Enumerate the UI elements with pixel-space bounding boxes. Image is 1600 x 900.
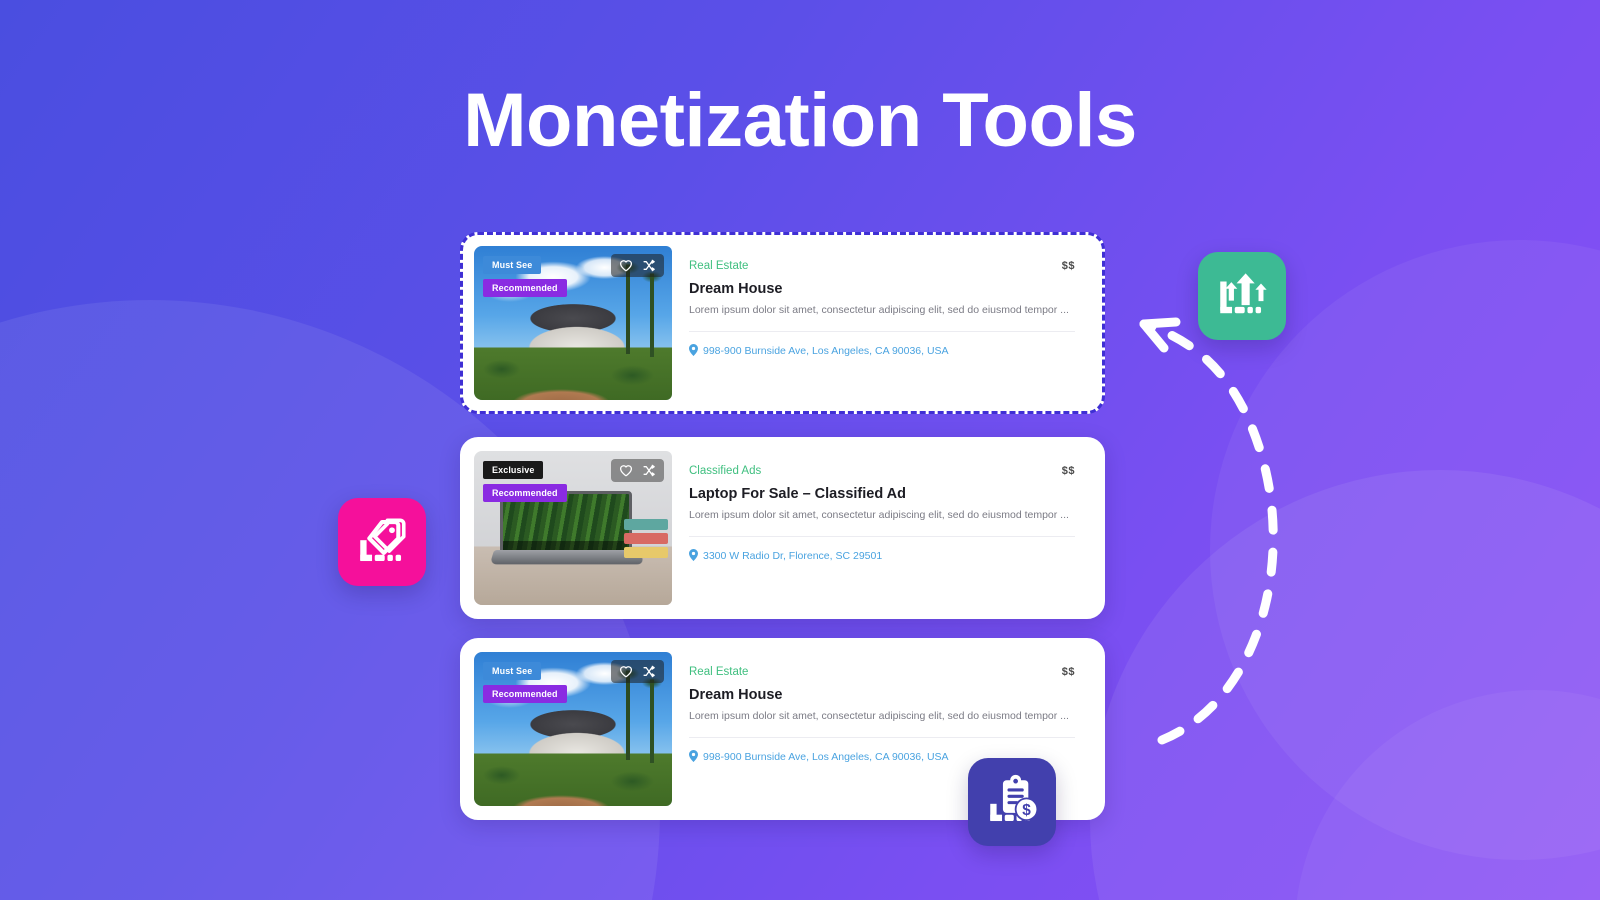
divider [689,737,1075,738]
thumbnail-actions[interactable] [611,254,664,277]
listing-address-row[interactable]: 3300 W Radio Dr, Florence, SC 29501 [689,549,1075,564]
badge-group: Must See Recommended [483,661,567,703]
heart-icon[interactable] [619,665,633,678]
thumbnail-actions[interactable] [611,660,664,683]
arrows-up-chart-icon [1213,267,1271,325]
background-circle-right-lower [1090,470,1600,900]
price-tags-icon [353,513,411,571]
map-pin-icon [689,344,698,359]
feature-icon-promote-listing[interactable] [1198,252,1286,340]
category-row: Classified Ads $$ [689,465,1075,479]
promo-banner: Monetization Tools Must See Recommended [0,0,1600,900]
listing-body: Classified Ads $$ Laptop For Sale – Clas… [672,451,1091,605]
listing-body: Real Estate $$ Dream House Lorem ipsum d… [672,246,1091,400]
map-pin-icon [689,750,698,765]
listing-card[interactable]: Must See Recommended [474,246,1091,400]
listing-card[interactable]: Exclusive Recommended [474,451,1091,605]
heart-icon[interactable] [619,259,633,272]
svg-text:$: $ [1022,802,1031,819]
listing-title[interactable]: Laptop For Sale – Classified Ad [689,485,1075,504]
listing-thumbnail[interactable]: Must See Recommended [474,246,672,400]
divider [689,331,1075,332]
listing-card-wrapper[interactable]: Exclusive Recommended [460,437,1105,619]
compare-icon[interactable] [642,665,656,678]
background-circle-corner [1295,690,1600,900]
listing-address: 998-900 Burnside Ave, Los Angeles, CA 90… [703,345,949,357]
compare-icon[interactable] [642,464,656,477]
laptop-illustration [492,491,642,569]
badge-group: Exclusive Recommended [483,460,567,502]
category-row: Real Estate $$ [689,260,1075,274]
listing-category[interactable]: Classified Ads [689,465,761,479]
thumbnail-actions[interactable] [611,459,664,482]
badge-recommended: Recommended [483,685,567,703]
category-row: Real Estate $$ [689,666,1075,680]
listing-title[interactable]: Dream House [689,686,1075,705]
listing-excerpt: Lorem ipsum dolor sit amet, consectetur … [689,303,1075,318]
badge-recommended: Recommended [483,279,567,297]
compare-icon[interactable] [642,259,656,272]
divider [689,536,1075,537]
listing-thumbnail[interactable]: Must See Recommended [474,652,672,806]
listing-price: $$ [1062,465,1075,477]
books-illustration [624,519,668,565]
badge-group: Must See Recommended [483,255,567,297]
feature-icon-pricing-tags[interactable] [338,498,426,586]
listing-price: $$ [1062,666,1075,678]
badge-must-see: Must See [483,662,541,680]
listing-price: $$ [1062,260,1075,272]
listing-excerpt: Lorem ipsum dolor sit amet, consectetur … [689,508,1075,523]
listing-thumbnail[interactable]: Exclusive Recommended [474,451,672,605]
badge-recommended: Recommended [483,484,567,502]
listing-address: 998-900 Burnside Ave, Los Angeles, CA 90… [703,751,949,763]
badge-exclusive: Exclusive [483,461,543,479]
listing-excerpt: Lorem ipsum dolor sit amet, consectetur … [689,709,1075,724]
feature-icon-invoicing[interactable]: $ [968,758,1056,846]
badge-must-see: Must See [483,256,541,274]
listing-address-row[interactable]: 998-900 Burnside Ave, Los Angeles, CA 90… [689,344,1075,359]
invoice-dollar-icon: $ [983,773,1041,831]
listing-title[interactable]: Dream House [689,280,1075,299]
page-title: Monetization Tools [0,78,1600,163]
listing-address: 3300 W Radio Dr, Florence, SC 29501 [703,550,882,562]
dashed-curved-arrow [1110,300,1320,760]
listing-card-selected-wrapper[interactable]: Must See Recommended [460,232,1105,414]
heart-icon[interactable] [619,464,633,477]
listing-category[interactable]: Real Estate [689,666,748,680]
map-pin-icon [689,549,698,564]
listing-category[interactable]: Real Estate [689,260,748,274]
